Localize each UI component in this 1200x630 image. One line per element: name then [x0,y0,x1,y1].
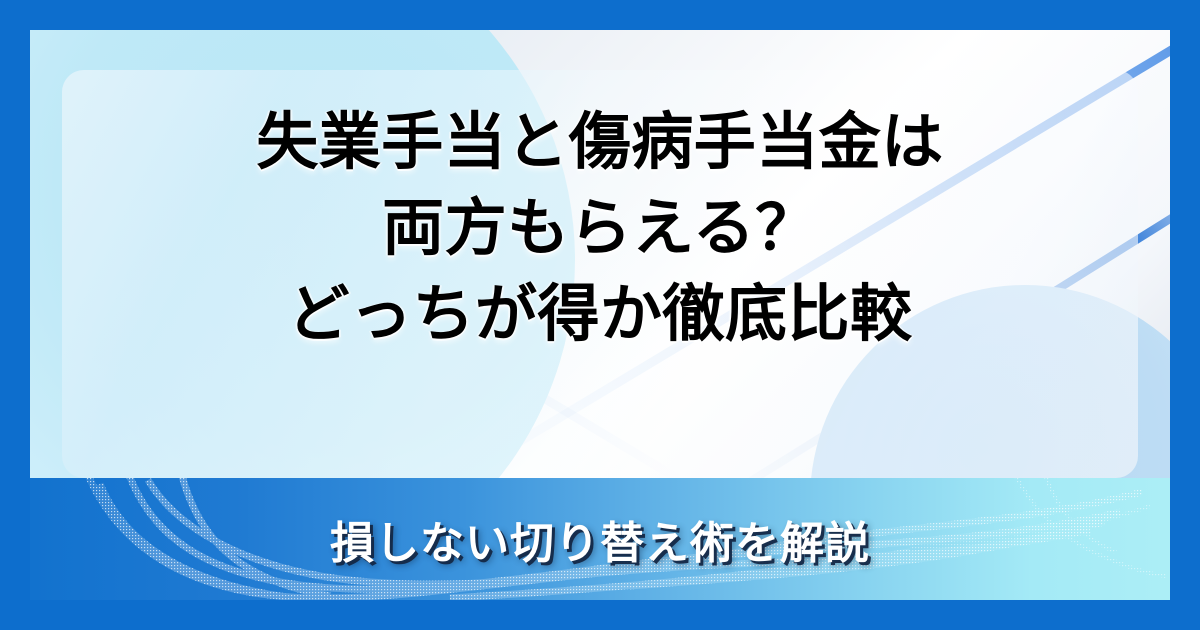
subtitle-text: 損しない切り替え術を解説 [330,507,870,571]
title-container: 失業手当と傷病手当金は 両方もらえる？ どっちが得か徹底比較 [0,100,1200,358]
title-line-3: どっちが得か徹底比較 [0,272,1200,358]
title-line-1: 失業手当と傷病手当金は [0,100,1200,186]
subtitle-container: 損しない切り替え術を解説 [30,478,1170,600]
og-image-card: 損しない切り替え術を解説 失業手当と傷病手当金は 両方もらえる？ どっちが得か徹… [0,0,1200,630]
title-line-2: 両方もらえる？ [0,186,1200,272]
